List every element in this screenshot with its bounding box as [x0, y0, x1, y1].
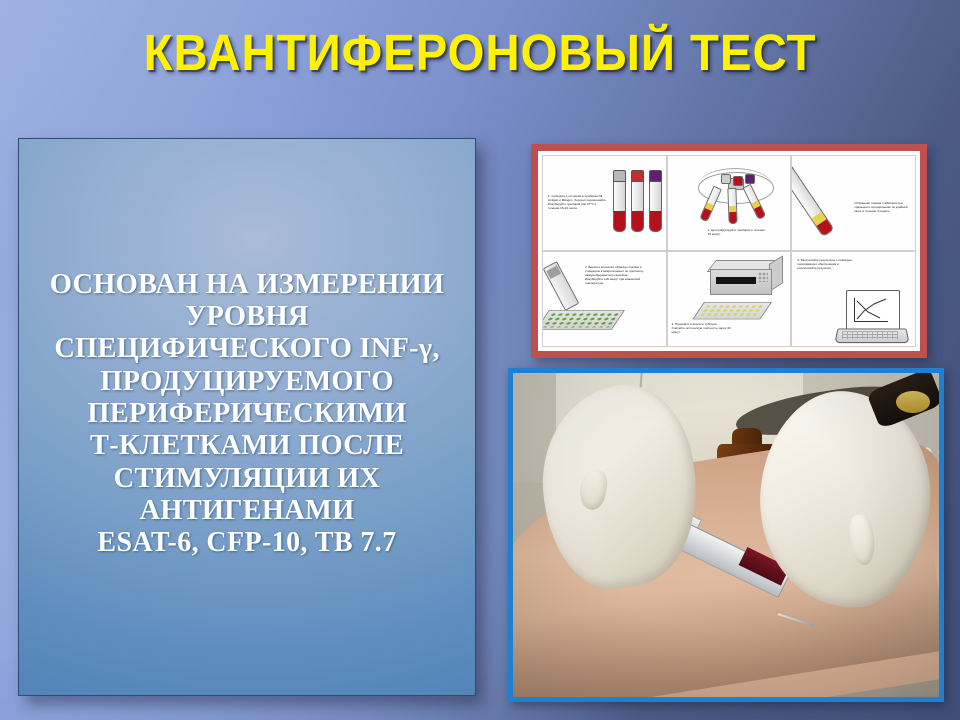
panel-text-line-4: ПРОДУЦИРУЕМОГО [50, 366, 444, 398]
workflow-panel-2-caption: 2. Центрифугируйте пробирки в течение 15… [708, 228, 768, 236]
blood-tubes-icon [611, 168, 667, 238]
slide-canvas: КВАНТИФЕРОНОВЫЙ ТЕСТ ОСНОВАН НА ИЗМЕРЕНИ… [0, 0, 960, 720]
laptop-chart-icon [836, 290, 906, 347]
panel-text-line-9: ESAT-6, CFP-10, TB 7.7 [50, 527, 444, 559]
workflow-diagram-image: 1. Соберите 1 мл крови в пробирки Nil, A… [531, 144, 927, 358]
page-title: КВАНТИФЕРОНОВЫЙ ТЕСТ [34, 26, 927, 80]
venipuncture-photo-canvas [513, 373, 939, 697]
plate-reader-icon [710, 260, 782, 298]
workflow-panel-3-caption: Собранная плазма стабильна при хранении … [854, 201, 914, 213]
multichannel-pipette-icon [543, 261, 580, 311]
workflow-panel-1-caption: 1. Соберите 1 мл крови в пробирки Nil, A… [548, 194, 608, 210]
plasma-tube-icon [791, 165, 835, 237]
panel-text-line-7: СТИМУЛЯЦИИ ИХ [50, 463, 444, 495]
panel-text-line-3: СПЕЦИФИЧЕСКОГО INF-γ, [50, 333, 444, 365]
yellow-microplate-icon [692, 302, 772, 319]
photo-vignette [513, 373, 939, 697]
venipuncture-photo [508, 368, 944, 702]
workflow-panel-4: 3. Внесите конъюгат, образцы плазмы и ст… [542, 251, 667, 347]
panel-text-line-2: УРОВНЯ [50, 301, 444, 333]
panel-text-line-6: Т-КЛЕТКАМИ ПОСЛЕ [50, 430, 444, 462]
text-content-panel: ОСНОВАН НА ИЗМЕРЕНИИ УРОВНЯ СПЕЦИФИЧЕСКО… [18, 138, 476, 696]
workflow-panel-5-caption: 4. Промойте и внесите субстрат. Считайте… [672, 322, 732, 334]
centrifuge-icon [692, 162, 778, 236]
panel-text-line-1: ОСНОВАН НА ИЗМЕРЕНИИ [50, 269, 444, 301]
workflow-panel-5: 4. Промойте и внесите субстрат. Считайте… [667, 251, 792, 347]
green-microplate-icon [542, 310, 625, 330]
workflow-panel-2: 2. Центрифугируйте пробирки в течение 15… [667, 155, 792, 251]
panel-text-line-5: ПЕРИФЕРИЧЕСКИМИ [50, 398, 444, 430]
workflow-panel-6-caption: 5. Рассчитайте результаты с помощью прог… [797, 258, 857, 270]
workflow-panel-1: 1. Соберите 1 мл крови в пробирки Nil, A… [542, 155, 667, 251]
workflow-panel-4-caption: 3. Внесите конъюгат, образцы плазмы и ст… [585, 265, 645, 285]
workflow-panel-3: Собранная плазма стабильна при хранении … [791, 155, 916, 251]
workflow-panel-6: 5. Рассчитайте результаты с помощью прог… [791, 251, 916, 347]
panel-text-block: ОСНОВАН НА ИЗМЕРЕНИИ УРОВНЯ СПЕЦИФИЧЕСКО… [50, 269, 444, 560]
panel-text-line-8: АНТИГЕНАМИ [50, 495, 444, 527]
workflow-diagram-grid: 1. Соберите 1 мл крови в пробирки Nil, A… [538, 151, 920, 351]
